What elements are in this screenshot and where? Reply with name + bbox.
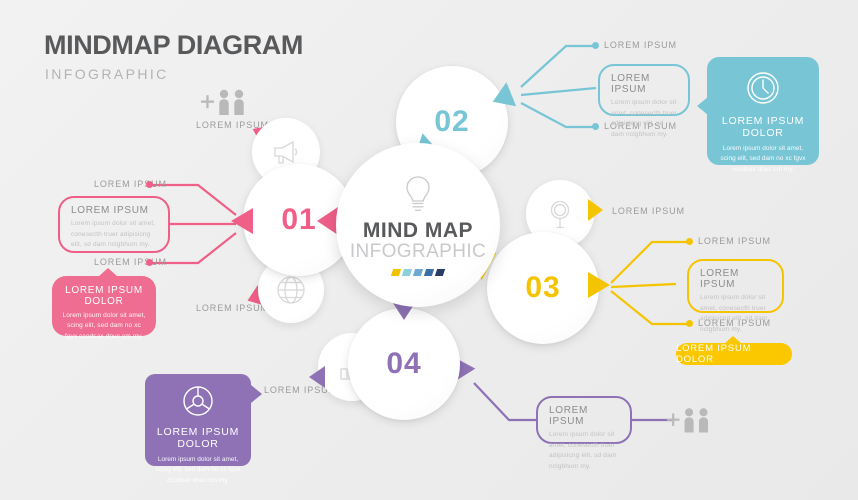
yellow-outline-box[interactable]: LOREM IPSUM Lorem ipsum dolor sit amet, … <box>687 259 784 313</box>
pink-callout-box[interactable]: LOREM IPSUM DOLOR Lorem ipsum dolor sit … <box>52 276 156 336</box>
bottom-people-group <box>666 406 716 434</box>
purple-panel-notch <box>251 385 262 403</box>
node-01-pointer-in <box>231 208 253 234</box>
hub-title: MIND MAP <box>363 220 473 242</box>
teal-panel-title: LOREM IPSUM DOLOR <box>707 115 819 139</box>
yellow-pill-badge[interactable]: LOREM IPSUM DOLOR <box>676 343 792 365</box>
yellow-side-label: LOREM IPSUM <box>612 206 685 216</box>
infographic-canvas: MINDMAP DIAGRAM INFOGRAPHIC <box>0 0 858 500</box>
plus-two-people-icon <box>666 406 716 434</box>
yellow-pill-notch <box>724 336 742 344</box>
teal-label-top: LOREM IPSUM <box>604 40 677 50</box>
dash-3 <box>413 269 423 276</box>
pie-chart-icon <box>181 384 215 418</box>
hub-subtitle: INFOGRAPHIC <box>350 242 486 263</box>
plus-two-people-icon <box>200 88 252 116</box>
teal-panel-body: Lorem ipsum dolor sit amet, scing elit, … <box>715 144 811 175</box>
teal-outline-box[interactable]: LOREM IPSUM Lorem ipsum dolor sit amet, … <box>598 64 690 116</box>
purple-outline-box[interactable]: LOREM IPSUM Lorem ipsum dolor sit amet, … <box>536 396 632 444</box>
dash-4 <box>424 269 434 276</box>
pink-callout-title: LOREM IPSUM DOLOR <box>62 285 146 307</box>
teal-panel[interactable]: LOREM IPSUM DOLOR Lorem ipsum dolor sit … <box>707 57 819 165</box>
dash-5 <box>435 269 445 276</box>
teal-dot-bottom <box>592 123 599 130</box>
node-03-pointer-out <box>588 272 610 298</box>
magnifier-icon <box>545 198 575 230</box>
pink-label-bottom: LOREM IPSUM <box>94 257 167 267</box>
node-number-01: 01 <box>281 203 316 237</box>
pink-box-title: LOREM IPSUM <box>71 205 158 216</box>
yellow-box-title: LOREM IPSUM <box>700 268 772 290</box>
node-number-04: 04 <box>386 347 421 381</box>
purple-panel-title: LOREM IPSUM DOLOR <box>145 426 251 450</box>
clock-icon <box>744 69 782 107</box>
node-number-03: 03 <box>525 271 560 305</box>
magnifier-pointer <box>588 199 603 221</box>
pink-dot-bottom <box>146 259 153 266</box>
pink-callout-notch <box>98 268 118 277</box>
purple-panel-body: Lorem ipsum dolor sit amet, scing elit, … <box>151 455 245 486</box>
yellow-box-body: Lorem ipsum dolor sit amet, conesecth tr… <box>700 293 772 336</box>
purple-box-title: LOREM IPSUM <box>549 405 620 427</box>
pink-callout-body: Lorem ipsum dolor sit amet, scing elit, … <box>62 311 146 342</box>
dash-2 <box>402 269 412 276</box>
pink-outline-box[interactable]: LOREM IPSUM Lorem ipsum dolor sit amet, … <box>58 196 170 253</box>
lightbulb-icon <box>401 174 435 216</box>
top-people-group <box>200 88 252 116</box>
pink-dot-top <box>146 181 153 188</box>
yellow-dot-bottom <box>686 320 693 327</box>
mindmap-hub[interactable]: MIND MAP INFOGRAPHIC <box>336 143 500 307</box>
purple-panel[interactable]: LOREM IPSUM DOLOR Lorem ipsum dolor sit … <box>145 374 251 466</box>
pink-box-body: Lorem ipsum dolor sit amet, conesecth tr… <box>71 219 158 251</box>
pink-label-top: LOREM IPSUM <box>94 179 167 189</box>
megaphone-icon <box>269 137 303 167</box>
globe-icon <box>275 274 307 306</box>
dash-1 <box>391 269 401 276</box>
node-number-02: 02 <box>434 105 469 139</box>
teal-panel-notch <box>697 97 708 115</box>
teal-dot-top <box>592 42 599 49</box>
purple-box-body: Lorem ipsum dolor sit amet, conesecth tr… <box>549 430 620 473</box>
node-circle-04[interactable]: 04 <box>348 308 460 420</box>
teal-box-body: Lorem ipsum dolor sit amet, conesecth tr… <box>611 98 678 141</box>
yellow-dot-top <box>686 238 693 245</box>
node-04-pointer-left <box>309 366 325 388</box>
hub-color-dashes <box>392 269 444 276</box>
yellow-label-top: LOREM IPSUM <box>698 236 771 246</box>
node-circle-03[interactable]: 03 <box>487 232 599 344</box>
teal-box-title: LOREM IPSUM <box>611 73 678 95</box>
